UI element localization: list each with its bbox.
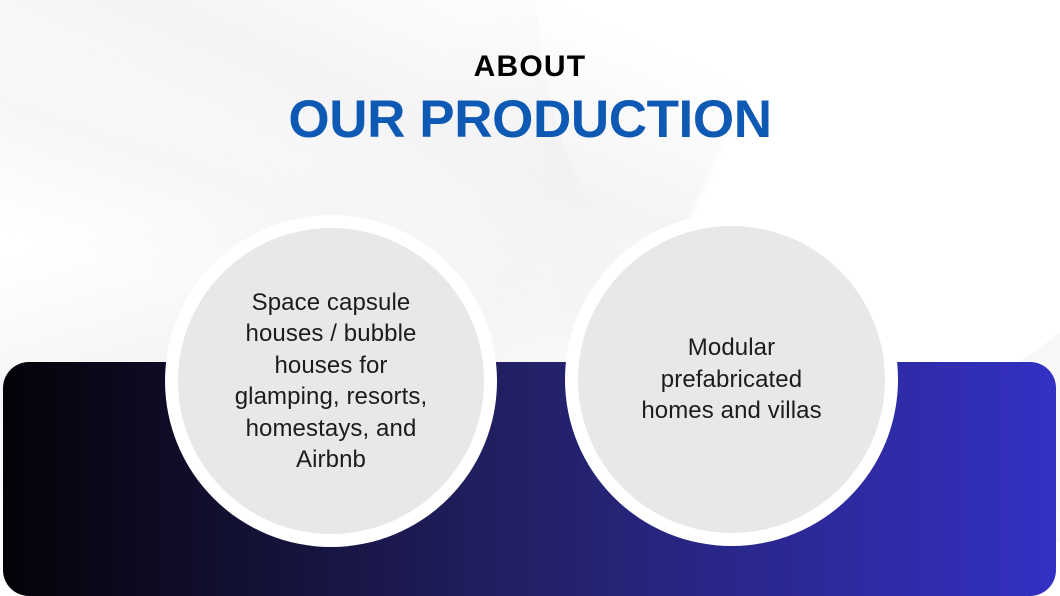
slide-canvas: ABOUT OUR PRODUCTION Space capsule house… [0, 0, 1060, 596]
info-bubble-right-text: Modular prefabricated homes and villas [615, 332, 847, 427]
info-bubble-left-text: Space capsule houses / bubble houses for… [209, 287, 454, 476]
section-kicker: ABOUT [0, 52, 1060, 82]
info-bubble-right: Modular prefabricated homes and villas [578, 226, 885, 533]
heading-block: ABOUT OUR PRODUCTION [0, 52, 1060, 146]
info-bubble-left: Space capsule houses / bubble houses for… [178, 228, 484, 534]
page-title: OUR PRODUCTION [0, 93, 1060, 146]
gradient-band [3, 362, 1056, 596]
